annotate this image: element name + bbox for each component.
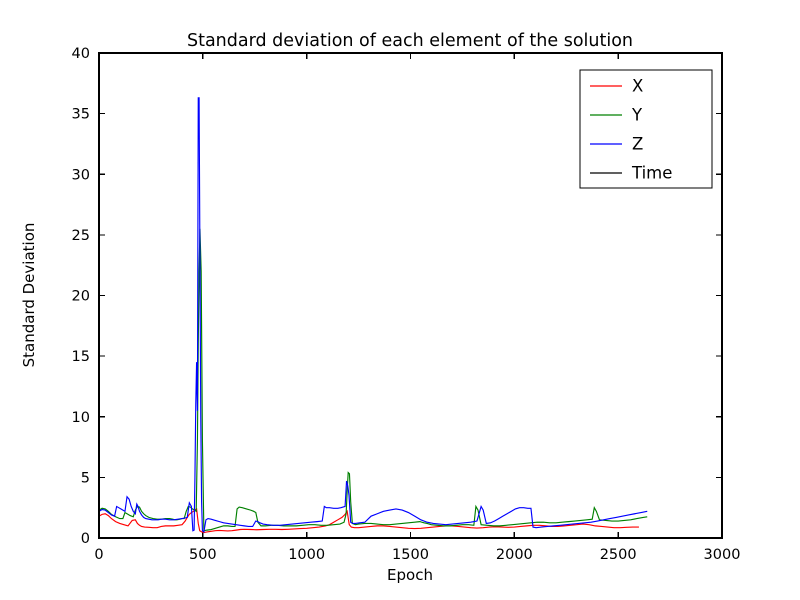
y-tick-label-6: 30 — [72, 167, 90, 183]
y-tick-label-3: 15 — [72, 349, 90, 365]
x-tick-label-5: 2500 — [600, 547, 637, 563]
chart-legend[interactable]: XYZTime — [580, 70, 712, 188]
legend-label-z[interactable]: Z — [632, 135, 643, 154]
x-tick-label-4: 2000 — [496, 547, 533, 563]
figure-canvas: Standard deviation of each element of th… — [0, 0, 800, 600]
y-tick-label-2: 10 — [72, 410, 90, 426]
y-axis-title: Standard Deviation — [20, 223, 38, 368]
y-tick-label-1: 5 — [81, 470, 90, 486]
x-tick-label-1: 500 — [189, 547, 217, 563]
x-tick-label-6: 3000 — [704, 547, 741, 563]
data-series-group — [99, 98, 647, 538]
series-line-x — [99, 509, 639, 533]
series-line-z — [99, 98, 647, 532]
legend-label-time[interactable]: Time — [631, 164, 672, 183]
legend-label-x[interactable]: X — [632, 77, 643, 96]
x-tick-label-0: 0 — [94, 547, 103, 563]
y-tick-label-0: 0 — [81, 531, 90, 547]
y-tick-label-4: 20 — [72, 289, 90, 305]
y-tick-label-8: 40 — [72, 46, 90, 62]
series-line-y — [99, 229, 647, 531]
y-tick-label-7: 35 — [72, 107, 90, 123]
legend-label-y[interactable]: Y — [631, 106, 643, 125]
x-axis-title: Epoch — [387, 566, 433, 584]
x-tick-label-2: 1000 — [288, 547, 325, 563]
chart-title: Standard deviation of each element of th… — [187, 31, 633, 51]
chart-plot: Standard deviation of each element of th… — [0, 0, 800, 600]
x-tick-label-3: 1500 — [392, 547, 429, 563]
y-tick-label-5: 25 — [72, 228, 90, 244]
